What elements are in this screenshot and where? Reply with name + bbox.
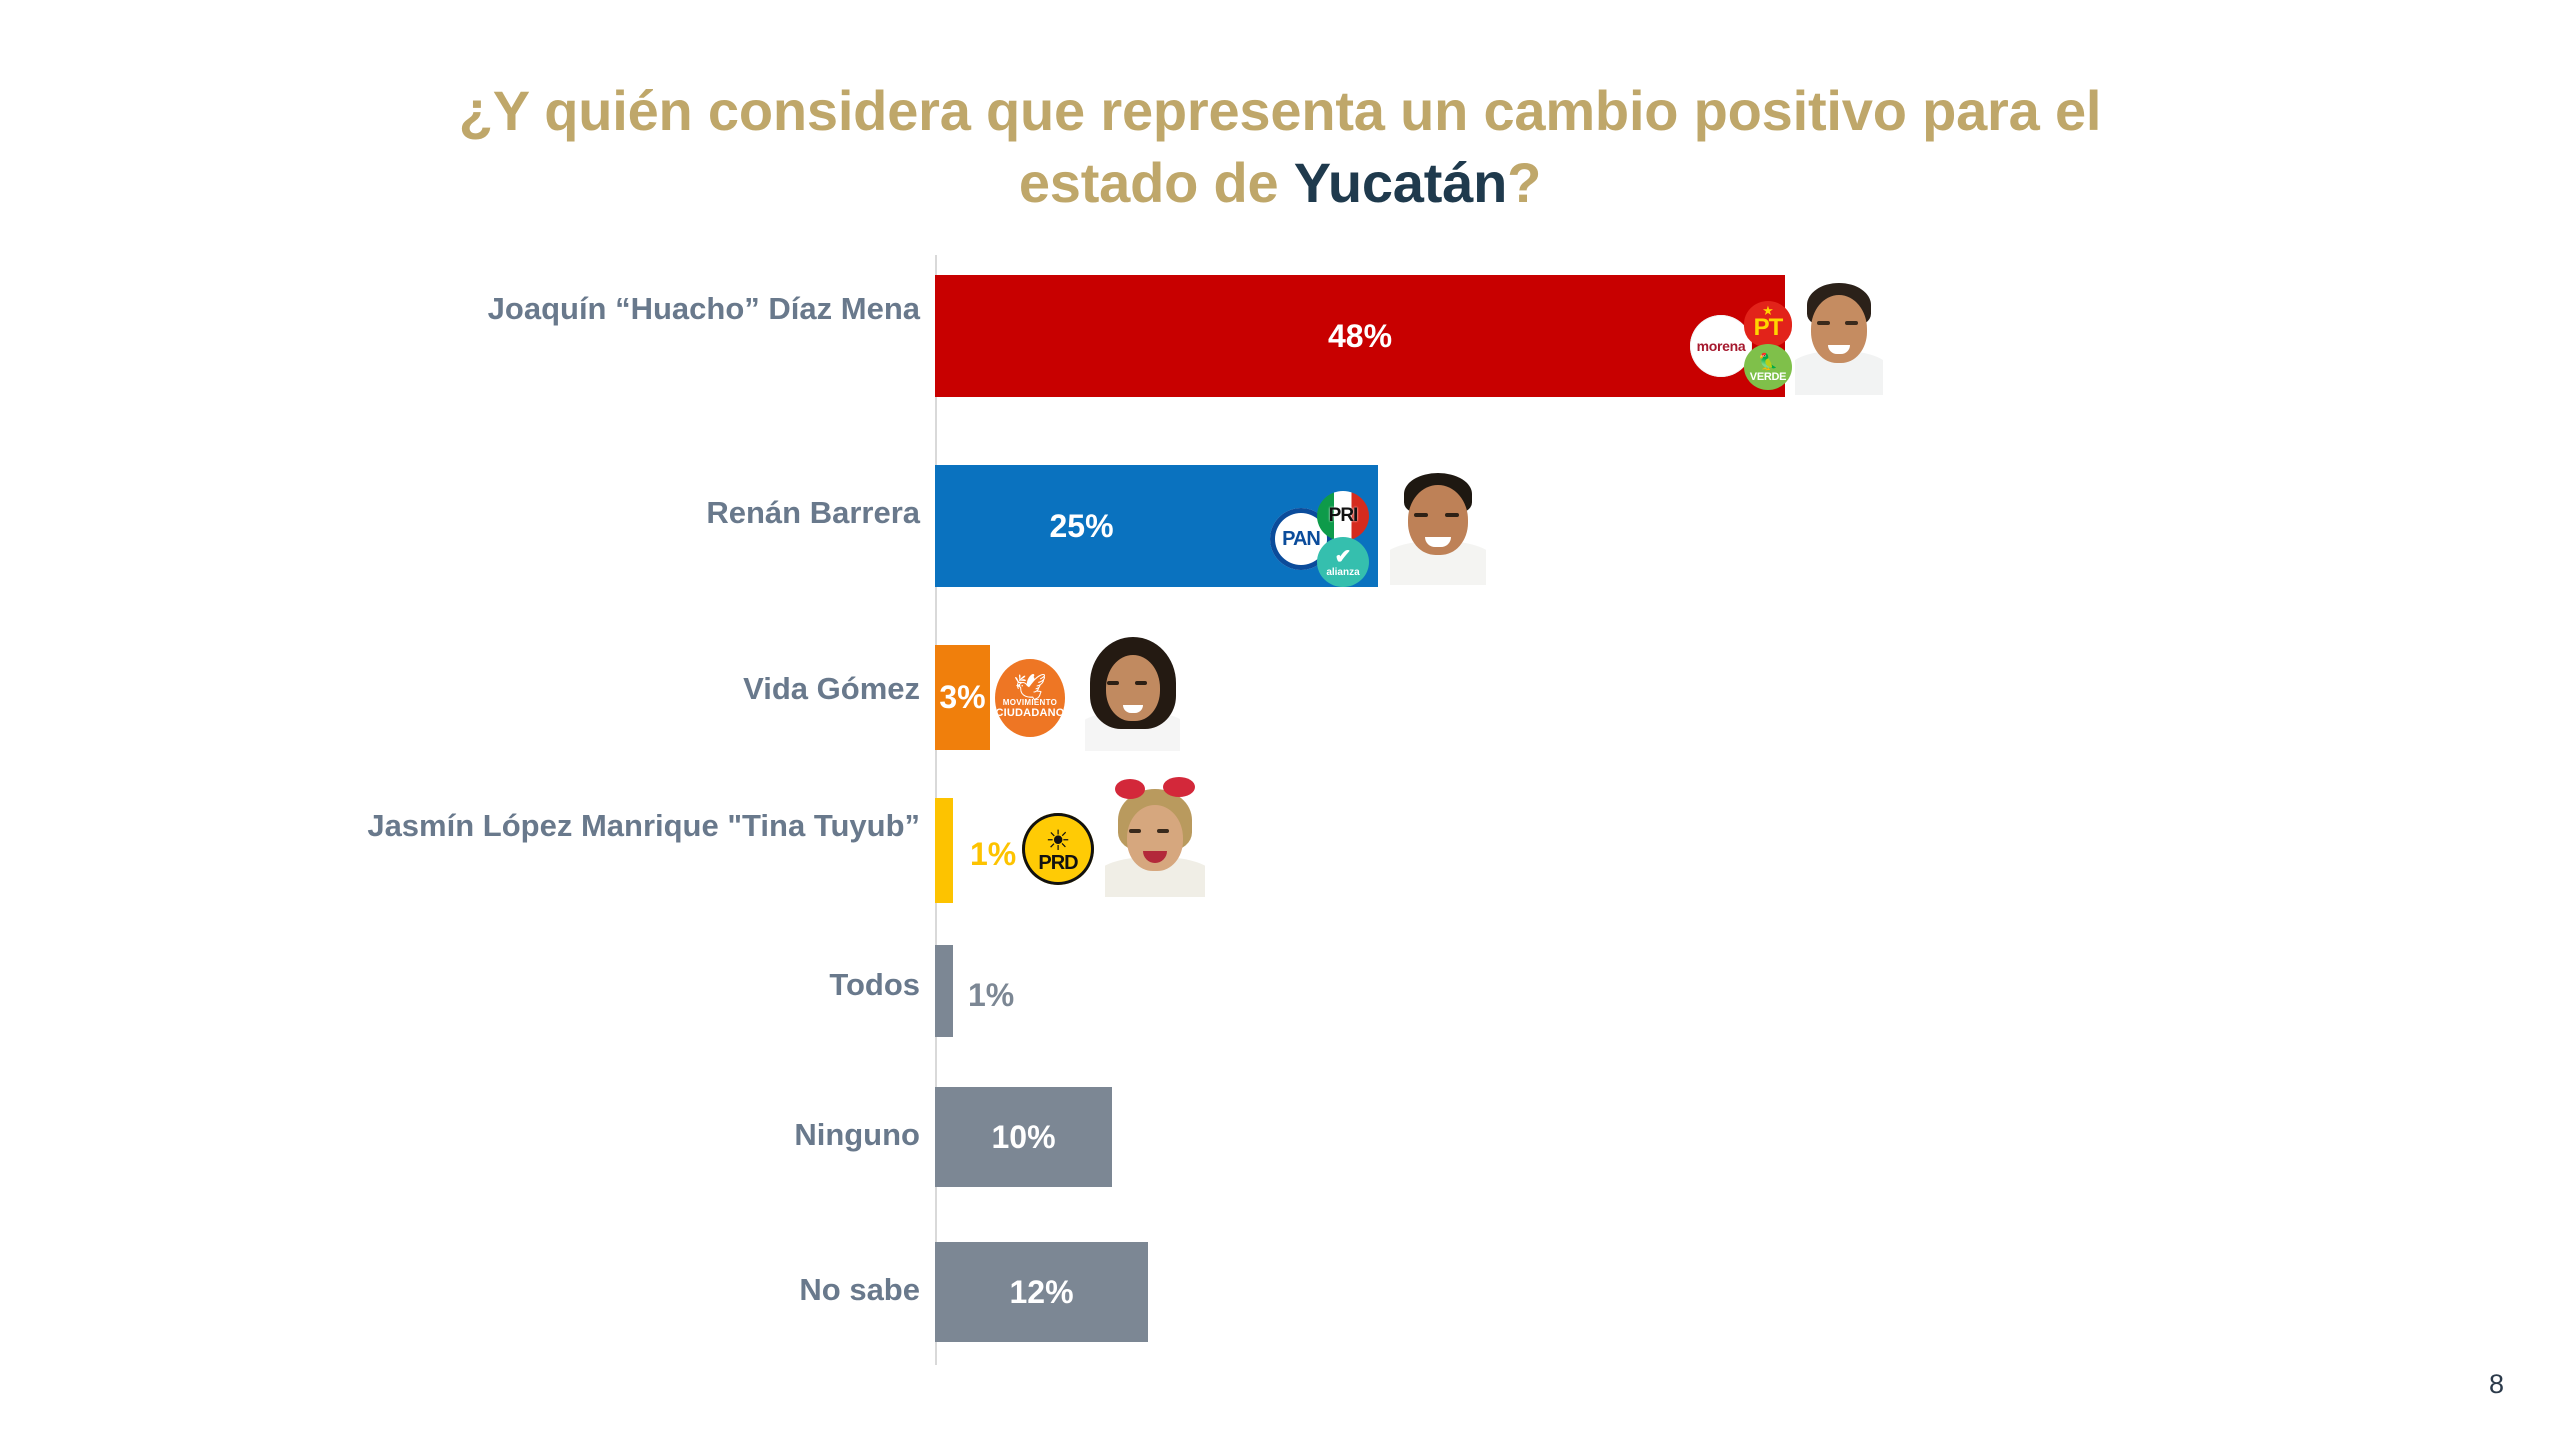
chart-row: Todos 1%	[0, 927, 2560, 1069]
prd-sun-icon: ☀	[1045, 829, 1070, 853]
prd-logo-icon: ☀ PRD	[1022, 813, 1094, 885]
pri-logo-label: PRI	[1329, 505, 1358, 527]
bar-todos[interactable]	[935, 945, 953, 1037]
title-highlight-state: Yucatán	[1294, 151, 1507, 214]
bar-huacho[interactable]: 48%	[935, 275, 1785, 397]
bar-ninguno[interactable]: 10%	[935, 1087, 1112, 1187]
candidate-photo-renan	[1390, 467, 1486, 585]
chart-row: Joaquín “Huacho” Díaz Mena 48% morena ★ …	[0, 255, 2560, 415]
bar-value-no-sabe: 12%	[1009, 1274, 1073, 1311]
bar-chart: Joaquín “Huacho” Díaz Mena 48% morena ★ …	[0, 255, 2560, 1375]
title-text-tail: ?	[1507, 151, 1541, 214]
bar-value-jasmin: 1%	[970, 838, 1016, 870]
party-logos-jasmin: ☀ PRD	[1022, 813, 1094, 885]
chart-row: Ninguno 10%	[0, 1073, 2560, 1223]
pt-logo-icon: ★ PT	[1744, 301, 1792, 347]
page-title: ¿Y quién considera que representa un cam…	[430, 75, 2130, 218]
verde-logo-label: VERDE	[1750, 371, 1786, 383]
pri-logo-icon: PRI	[1317, 491, 1369, 541]
party-logos-vida: 🕊 MOVIMIENTO CIUDADANO	[995, 659, 1065, 737]
mc-logo-label-line1: MOVIMIENTO	[1003, 698, 1057, 707]
row-label-ninguno: Ninguno	[300, 1115, 920, 1155]
chart-row: Jasmín López Manrique "Tina Tuyub” 1% ☀ …	[0, 780, 2560, 935]
party-logos-huacho: morena ★ PT 🦜 VERDE	[1690, 301, 1792, 390]
bar-value-todos: 1%	[968, 979, 1014, 1011]
morena-logo-icon: morena	[1690, 315, 1752, 377]
alianza-logo-label: alianza	[1326, 567, 1359, 578]
alianza-check-icon: ✔	[1335, 547, 1352, 567]
candidate-photo-huacho	[1795, 277, 1883, 395]
page-number: 8	[2489, 1369, 2504, 1400]
title-text-lead: ¿Y quién considera que representa un cam…	[459, 79, 2102, 214]
candidate-photo-jasmin	[1105, 775, 1205, 897]
bar-value-ninguno: 10%	[991, 1119, 1055, 1156]
bar-no-sabe[interactable]: 12%	[935, 1242, 1148, 1342]
morena-logo-label: morena	[1697, 338, 1746, 354]
pri-alianza-logo-stack: PRI ✔ alianza	[1324, 491, 1369, 587]
alianza-logo-icon: ✔ alianza	[1317, 537, 1369, 587]
chart-row: No sabe 12%	[0, 1230, 2560, 1380]
pan-logo-label: PAN	[1282, 528, 1320, 551]
row-label-no-sabe: No sabe	[300, 1270, 920, 1310]
candidate-photo-vida	[1085, 633, 1180, 751]
row-label-renan: Renán Barrera	[300, 493, 920, 533]
mc-logo-label-line2: CIUDADANO	[995, 707, 1064, 719]
party-logos-renan: PAN PRI ✔ alianza	[1270, 491, 1369, 587]
bar-value-vida: 3%	[939, 679, 985, 716]
row-label-todos: Todos	[300, 965, 920, 1005]
mc-eagle-icon: 🕊	[1013, 677, 1046, 698]
chart-row: Vida Gómez 3% 🕊 MOVIMIENTO CIUDADANO	[0, 633, 2560, 778]
verde-logo-icon: 🦜 VERDE	[1744, 344, 1792, 390]
row-label-jasmin: Jasmín López Manrique "Tina Tuyub”	[300, 806, 920, 846]
verde-bird-icon: 🦜	[1758, 355, 1778, 371]
bar-value-renan: 25%	[1049, 508, 1113, 545]
row-label-vida: Vida Gómez	[300, 669, 920, 709]
pt-star-icon: ★	[1762, 304, 1774, 317]
movimiento-ciudadano-logo-icon: 🕊 MOVIMIENTO CIUDADANO	[995, 659, 1065, 737]
bar-value-huacho: 48%	[1328, 318, 1392, 355]
bar-jasmin[interactable]	[935, 798, 953, 903]
bar-vida[interactable]: 3%	[935, 645, 990, 750]
chart-row: Renán Barrera 25% PAN PRI ✔ alianza	[0, 445, 2560, 605]
row-label-huacho: Joaquín “Huacho” Díaz Mena	[300, 289, 920, 329]
prd-logo-label: PRD	[1038, 852, 1077, 875]
slide: ¿Y quién considera que representa un cam…	[0, 0, 2560, 1440]
